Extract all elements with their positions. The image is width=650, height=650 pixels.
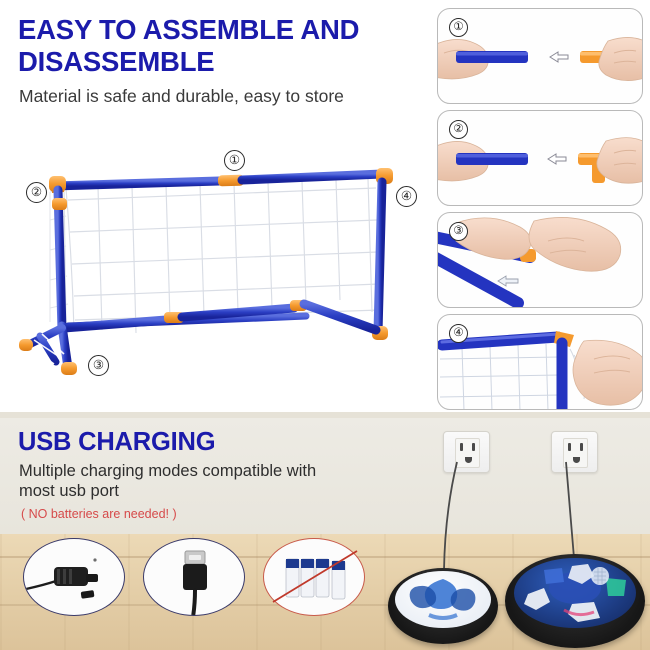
goal-crossbar-left: [54, 181, 219, 186]
ball-face: [514, 558, 636, 628]
goal-crossbar-right: [242, 174, 382, 180]
usb-subtitle-line-1: Multiple charging modes compatible with: [19, 461, 389, 481]
hover-ball-led: [505, 554, 645, 650]
outlet-slot-left: [460, 443, 463, 451]
step-number-2: ②: [449, 120, 468, 139]
goal-bottom-bar-left: [64, 320, 166, 328]
usb-section-subtitle: Multiple charging modes compatible with …: [19, 461, 389, 501]
right-hand: [573, 340, 643, 405]
goal-callout-4: ④: [396, 186, 417, 207]
headline-line-1: EASY TO ASSEMBLE AND: [18, 14, 418, 46]
wall-outlet-right: [551, 431, 598, 473]
step-1-illustration: [438, 9, 643, 104]
step-3-illustration: [438, 213, 643, 308]
usb-plug-graphic: [144, 539, 245, 616]
insert-direction-arrow: [498, 276, 518, 286]
hover-ball-white-blue: [388, 568, 498, 650]
goal-base-foot-cap: [61, 362, 77, 375]
step-2-illustration: [438, 111, 643, 206]
wall-outlet-left: [443, 431, 490, 473]
dot-detail: [93, 558, 96, 561]
outlet-slot-left: [568, 443, 571, 451]
page-title: EASY TO ASSEMBLE AND DISASSEMBLE: [18, 14, 418, 78]
ball-panel-white: [568, 602, 600, 622]
outlet-face: [563, 438, 588, 468]
led-green-glow: [606, 578, 626, 596]
goal-upright-left-sleeve: [52, 198, 67, 210]
ball-led-pattern: [514, 558, 636, 628]
plug-tip: [86, 574, 98, 582]
ball-swirl-pattern: [395, 571, 491, 628]
ball-panel-white: [524, 588, 550, 610]
insert-direction-arrow: [550, 52, 568, 62]
battery-group: [286, 559, 345, 599]
outlet-face: [455, 438, 480, 468]
goal-callout-1: ①: [224, 150, 245, 171]
goal-callout-3: ③: [88, 355, 109, 376]
soccer-goal-illustration: ① ② ③ ④: [6, 140, 426, 402]
assembly-steps-list: ①: [437, 8, 643, 416]
ball-face: [395, 571, 491, 628]
page-subtitle: Material is safe and durable, easy to st…: [19, 86, 419, 107]
dc-plug-graphic: [24, 539, 125, 616]
goal-base-arm-cap: [19, 339, 33, 351]
left-hand: [456, 218, 531, 259]
headline-line-2: DISASSEMBLE: [18, 46, 418, 78]
goal-base-post: [62, 326, 68, 368]
step-number-4: ④: [449, 324, 468, 343]
insert-direction-arrow: [548, 154, 566, 164]
right-hand: [529, 217, 621, 271]
goal-upright-left: [58, 190, 62, 330]
dc-charger-plug-icon: [23, 538, 125, 616]
no-batteries-note: ( NO batteries are needed! ): [21, 507, 177, 521]
step-number-1: ①: [449, 18, 468, 37]
assembly-step-panel-4: ④: [437, 314, 643, 410]
goal-bottom-bar-depth-right: [304, 304, 376, 330]
outlet-ground-slot: [573, 457, 580, 463]
usb-body: [183, 564, 207, 590]
usb-connector-icon: [143, 538, 245, 616]
infographic-page: EASY TO ASSEMBLE AND DISASSEMBLE Materia…: [0, 0, 650, 650]
no-batteries-icon: [263, 538, 365, 616]
charger-cable: [26, 581, 56, 589]
outlet-slot-right: [472, 443, 475, 451]
usb-subtitle-line-2: most usb port: [19, 481, 389, 501]
assembly-section: EASY TO ASSEMBLE AND DISASSEMBLE Materia…: [0, 0, 650, 412]
outlet-slot-right: [580, 443, 583, 451]
goal-upright-right: [378, 182, 382, 332]
step-number-3: ③: [449, 222, 468, 241]
assembly-step-panel-1: ①: [437, 8, 643, 104]
usb-section-title: USB CHARGING: [18, 428, 215, 457]
usb-cable: [193, 590, 195, 616]
assembly-step-panel-2: ②: [437, 110, 643, 206]
assembly-step-panel-3: ③: [437, 212, 643, 308]
outlet-ground-slot: [465, 457, 472, 463]
step-4-illustration: [438, 315, 643, 410]
goal-callout-2: ②: [26, 182, 47, 203]
plug-adapter: [81, 590, 95, 599]
right-hand: [599, 37, 643, 80]
soccer-goal-graphic: [6, 140, 426, 402]
batteries-graphic: [264, 539, 365, 616]
goal-net: [440, 344, 560, 410]
usb-charging-section: USB CHARGING Multiple charging modes com…: [0, 418, 650, 650]
